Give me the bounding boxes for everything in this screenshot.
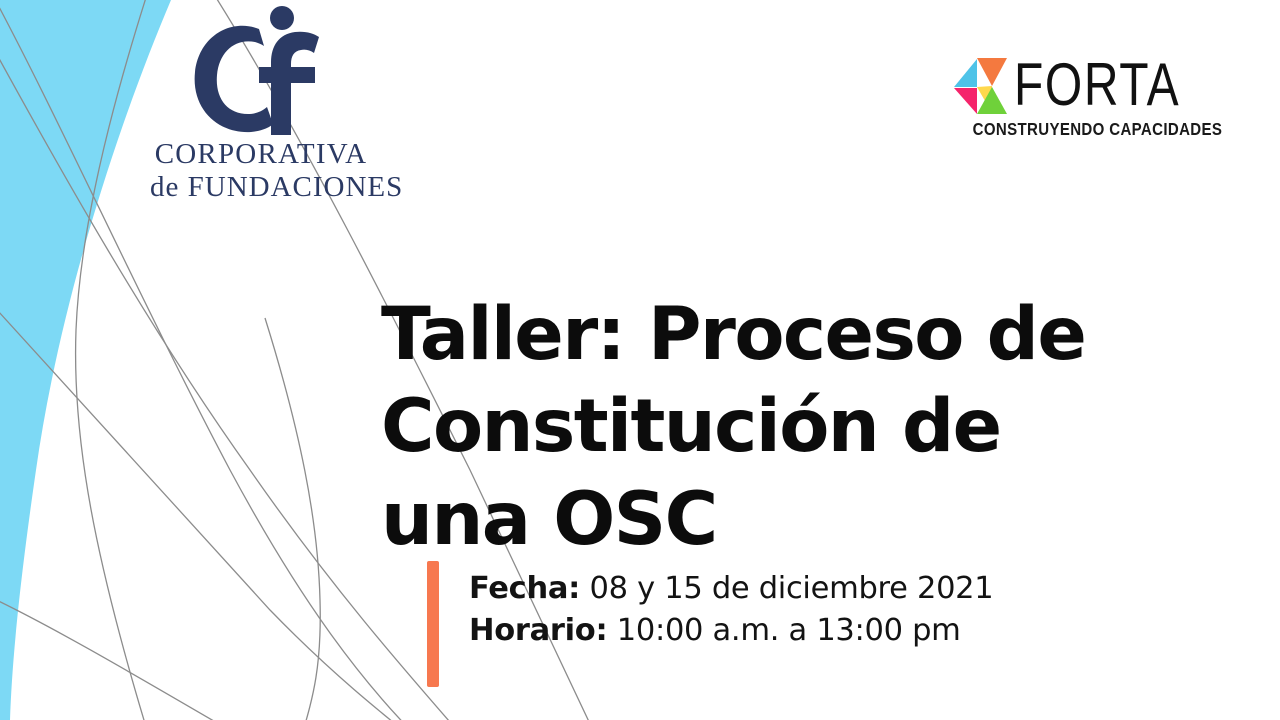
cf-logo-line-1: CORPORATIVA xyxy=(155,138,368,170)
mosaic-triangle-pink xyxy=(954,88,977,114)
event-flyer-slide: CORPORATIVA de FUNDACIONES FORTA CONSTRU… xyxy=(0,0,1280,720)
forta-tagline: CONSTRUYENDO CAPACIDADES xyxy=(972,119,1222,140)
title-line-1: Taller: Proceso de xyxy=(381,289,1211,381)
accent-bar xyxy=(427,561,439,687)
mosaic-triangle-cyan xyxy=(954,59,977,87)
detail-value-fecha: 08 y 15 de diciembre 2021 xyxy=(580,571,993,606)
detail-label-fecha: Fecha: xyxy=(469,571,580,606)
title-line-3: una OSC xyxy=(381,474,1211,566)
title-line-2: Constitución de xyxy=(381,381,1211,473)
cf-monogram-person-icon xyxy=(185,6,337,138)
forta-triangle-mosaic-icon xyxy=(946,54,1008,116)
forta-wordmark: FORTA xyxy=(1014,59,1180,111)
forta-logo-top-row: FORTA xyxy=(946,54,1222,116)
event-details: Fecha: 08 y 15 de diciembre 2021 Horario… xyxy=(427,561,993,687)
forta-logo: FORTA CONSTRUYENDO CAPACIDADES xyxy=(932,54,1222,140)
detail-value-horario: 10:00 a.m. a 13:00 pm xyxy=(607,613,960,648)
corporativa-de-fundaciones-logo: CORPORATIVA de FUNDACIONES xyxy=(150,6,372,204)
detail-row-fecha: Fecha: 08 y 15 de diciembre 2021 xyxy=(469,568,993,610)
detail-row-horario: Horario: 10:00 a.m. a 13:00 pm xyxy=(469,610,993,652)
cf-logo-line-2: de FUNDACIONES xyxy=(150,171,403,203)
cyan-curve-shape xyxy=(0,0,171,720)
mosaic-triangle-orange xyxy=(977,58,1007,86)
detail-label-horario: Horario: xyxy=(469,613,607,648)
event-details-text: Fecha: 08 y 15 de diciembre 2021 Horario… xyxy=(469,561,993,687)
page-title: Taller: Proceso de Constitución de una O… xyxy=(381,289,1211,566)
